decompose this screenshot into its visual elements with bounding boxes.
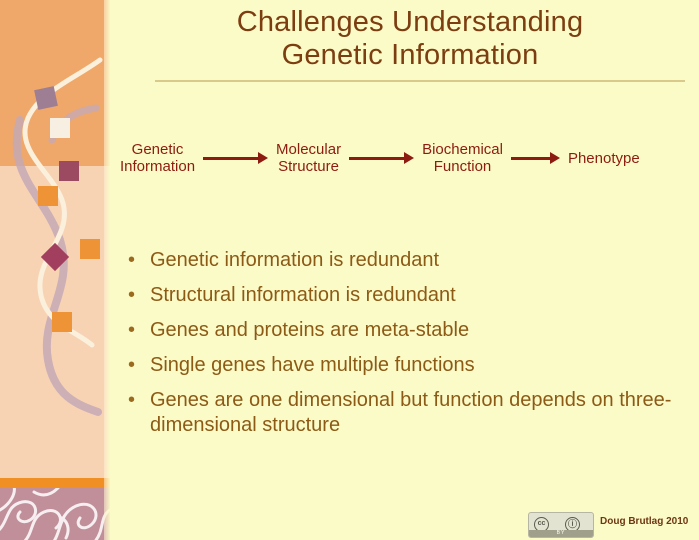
bullet-text: Genes and proteins are meta-stable <box>150 318 688 343</box>
flow-arrow-2 <box>349 151 414 165</box>
list-item: • Single genes have multiple functions <box>128 353 688 378</box>
sidebar-paisley-pattern <box>0 488 110 540</box>
square-orange-3 <box>52 312 72 332</box>
flow-arrow-1 <box>203 151 268 165</box>
paisley-svg <box>0 488 110 540</box>
list-item: • Genetic information is redundant <box>128 248 688 273</box>
flow-node-biochemical-function: Biochemical Function <box>422 141 503 175</box>
flow-diagram: Genetic Information Molecular Structure … <box>120 134 695 182</box>
square-orange-1 <box>38 186 58 206</box>
sidebar-squares <box>0 0 110 490</box>
creative-commons-badge[interactable]: cc ⓘ BY <box>528 512 594 538</box>
bullet-marker-icon: • <box>128 388 150 412</box>
square-cream-1 <box>50 118 70 138</box>
sidebar-orange-band <box>0 478 110 488</box>
bullet-marker-icon: • <box>128 248 150 272</box>
square-maroon-1 <box>59 161 79 181</box>
sidebar-edge-fade <box>104 0 110 540</box>
author-credit: Doug Brutlag 2010 <box>600 516 688 527</box>
page-title: Challenges Understanding Genetic Informa… <box>130 6 690 72</box>
bullet-marker-icon: • <box>128 353 150 377</box>
bullet-text: Structural information is redundant <box>150 283 688 308</box>
title-line-2: Genetic Information <box>130 39 690 72</box>
flow-node-molecular-structure: Molecular Structure <box>276 141 341 175</box>
cc-license-label: BY <box>529 530 593 537</box>
flow-node-genetic-information: Genetic Information <box>120 141 195 175</box>
slide-canvas: Challenges Understanding Genetic Informa… <box>0 0 699 540</box>
bullet-text: Single genes have multiple functions <box>150 353 688 378</box>
title-line-1: Challenges Understanding <box>130 6 690 39</box>
square-maroon-2 <box>41 243 69 271</box>
flow-arrow-3 <box>511 151 560 165</box>
bullet-list: • Genetic information is redundant • Str… <box>128 248 688 448</box>
square-mauve-1 <box>34 86 58 110</box>
list-item: • Genes and proteins are meta-stable <box>128 318 688 343</box>
bullet-text: Genes are one dimensional but function d… <box>150 388 688 438</box>
bullet-text: Genetic information is redundant <box>150 248 688 273</box>
list-item: • Genes are one dimensional but function… <box>128 388 688 438</box>
bullet-marker-icon: • <box>128 318 150 342</box>
flow-node-phenotype: Phenotype <box>568 150 640 167</box>
list-item: • Structural information is redundant <box>128 283 688 308</box>
square-orange-2 <box>80 239 100 259</box>
decorative-sidebar <box>0 0 110 540</box>
title-divider <box>155 80 685 82</box>
bullet-marker-icon: • <box>128 283 150 307</box>
